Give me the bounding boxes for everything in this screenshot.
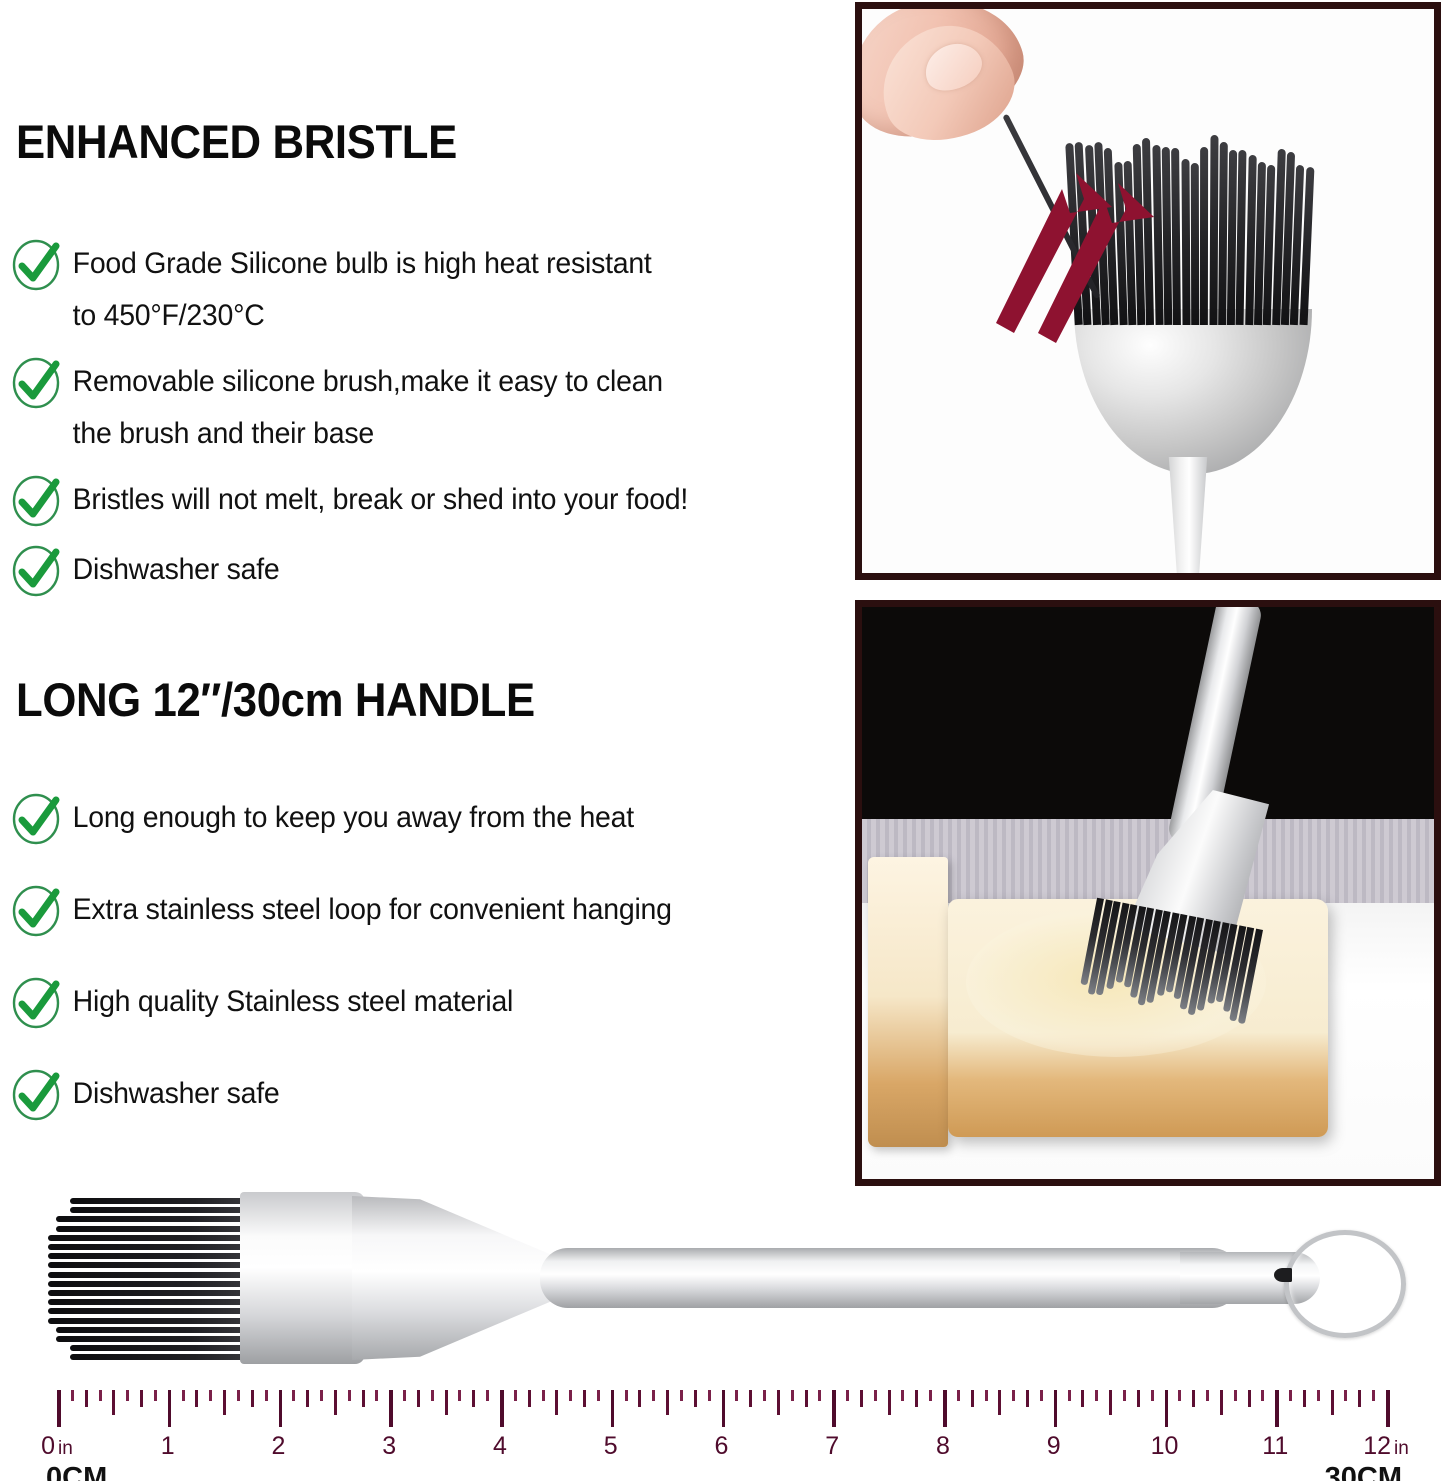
feature-text: High quality Stainless steel material — [64, 976, 822, 1028]
ruler-tick-eighth — [1040, 1390, 1043, 1401]
ruler-tick-eighth — [126, 1390, 129, 1401]
ruler-tick-major — [1054, 1390, 1058, 1427]
ruler-tick-major — [168, 1390, 172, 1427]
ruler-tick-quarter — [1137, 1390, 1140, 1407]
product-bristle — [48, 1262, 248, 1268]
ruler-inch-label: 2 — [272, 1432, 286, 1461]
ruler-tick-quarter — [251, 1390, 254, 1407]
ruler-tick-quarter — [1192, 1390, 1195, 1407]
ruler-tick-major — [57, 1390, 61, 1427]
list-item: Long enough to keep you away from the he… — [0, 792, 850, 848]
ruler-tick-half — [777, 1390, 780, 1415]
ruler-tick-eighth — [431, 1390, 434, 1401]
check-circle-icon — [10, 885, 64, 937]
ruler-tick-eighth — [348, 1390, 351, 1401]
ruler-inch-label: 6 — [715, 1432, 729, 1461]
ruler-tick-eighth — [71, 1390, 74, 1401]
ruler-tick-eighth — [1206, 1390, 1209, 1401]
product-full-view — [0, 1186, 1444, 1396]
feature-text: Bristles will not melt, break or shed in… — [64, 474, 822, 526]
ruler-tick-eighth — [957, 1390, 960, 1401]
ruler-tick-eighth — [1234, 1390, 1237, 1401]
ruler-tick-eighth — [597, 1390, 600, 1401]
product-bristle — [70, 1345, 248, 1351]
ruler-tick-eighth — [182, 1390, 185, 1401]
ruler-tick-quarter — [805, 1390, 808, 1407]
list-item: Bristles will not melt, break or shed in… — [0, 474, 850, 530]
product-bristle — [70, 1198, 248, 1204]
product-bristle — [48, 1299, 248, 1305]
ruler-tick-half — [1109, 1390, 1112, 1415]
ruler-tick-eighth — [514, 1390, 517, 1401]
ruler-tick-eighth — [1123, 1390, 1126, 1401]
ruler-tick-eighth — [237, 1390, 240, 1401]
ruler-tick-quarter — [860, 1390, 863, 1407]
ruler-inch-label: 3 — [382, 1432, 396, 1461]
ruler-inch-label: 5 — [604, 1432, 618, 1461]
ruler-tick-half — [1331, 1390, 1334, 1415]
ruler-tick-half — [1220, 1390, 1223, 1415]
ruler-tick-eighth — [403, 1390, 406, 1401]
ruler-tick-major — [1275, 1390, 1279, 1427]
ruler-tick-eighth — [735, 1390, 738, 1401]
ruler-tick-eighth — [846, 1390, 849, 1401]
ruler-tick-major — [389, 1390, 393, 1427]
product-bristle — [48, 1290, 248, 1296]
ruler-tick-eighth — [1012, 1390, 1015, 1401]
product-bristle — [48, 1272, 248, 1278]
ruler-tick-eighth — [874, 1390, 877, 1401]
list-item: Removable silicone brush,make it easy to… — [0, 356, 850, 460]
ruler-tick-eighth — [1178, 1390, 1181, 1401]
ruler-tick-quarter — [306, 1390, 309, 1407]
list-item: Extra stainless steel loop for convenien… — [0, 884, 850, 940]
ruler-tick-eighth — [542, 1390, 545, 1401]
product-handle-shaft — [540, 1248, 1240, 1308]
ruler-tick-major — [1165, 1390, 1169, 1427]
ruler-tick-eighth — [1068, 1390, 1071, 1401]
ruler-tick-quarter — [1026, 1390, 1029, 1407]
ruler-tick-eighth — [985, 1390, 988, 1401]
feature-list-enhanced-bristle: Food Grade Silicone bulb is high heat re… — [0, 238, 850, 614]
ruler-tick-eighth — [763, 1390, 766, 1401]
ruler-inch-label: 11 — [1262, 1432, 1288, 1461]
ruler-tick-eighth — [680, 1390, 683, 1401]
list-item: Food Grade Silicone bulb is high heat re… — [0, 238, 850, 342]
section-heading-long-handle: LONG 12″/30cm HANDLE — [16, 672, 535, 727]
ruler-tick-eighth — [569, 1390, 572, 1401]
ruler-tick-eighth — [320, 1390, 323, 1401]
ruler-tick-quarter — [1303, 1390, 1306, 1407]
photo-buttering-toast — [855, 600, 1441, 1186]
ruler-tick-quarter — [694, 1390, 697, 1407]
ruler-tick-quarter — [362, 1390, 365, 1407]
ruler-tick-eighth — [154, 1390, 157, 1401]
direction-arrow-icon — [992, 137, 1212, 372]
product-shoulder — [352, 1196, 552, 1360]
ruler-tick-quarter — [583, 1390, 586, 1407]
ruler-tick-half — [445, 1390, 448, 1415]
ruler-tick-half — [334, 1390, 337, 1415]
ruler-tick-eighth — [1317, 1390, 1320, 1401]
ruler-tick-eighth — [265, 1390, 268, 1401]
feature-text: Long enough to keep you away from the he… — [64, 792, 822, 844]
check-circle-icon — [10, 977, 64, 1029]
ruler-tick-eighth — [1344, 1390, 1347, 1401]
section-heading-enhanced-bristle: ENHANCED BRISTLE — [16, 114, 457, 169]
bread-slice-back — [868, 857, 948, 1147]
ruler-inch-label: 1 — [161, 1432, 175, 1461]
product-bristles — [48, 1198, 248, 1358]
check-circle-icon — [10, 475, 64, 527]
ruler-tick-major — [943, 1390, 947, 1427]
ruler-inch-label: 0in — [41, 1432, 73, 1461]
check-circle-icon — [10, 239, 64, 291]
product-bristle — [48, 1308, 248, 1314]
ruler-tick-quarter — [638, 1390, 641, 1407]
ruler-tick-quarter — [417, 1390, 420, 1407]
check-circle-icon — [10, 1069, 64, 1121]
product-bristle — [56, 1216, 248, 1222]
ruler-unit-label: in — [55, 1438, 73, 1459]
ruler-tick-eighth — [818, 1390, 821, 1401]
product-ferrule — [240, 1192, 365, 1364]
ruler-tick-eighth — [1289, 1390, 1292, 1401]
ruler-tick-quarter — [971, 1390, 974, 1407]
list-item: Dishwasher safe — [0, 1068, 850, 1124]
ruler-tick-quarter — [1358, 1390, 1361, 1407]
ruler-tick-eighth — [1095, 1390, 1098, 1401]
ruler-tick-quarter — [140, 1390, 143, 1407]
feature-text-column: ENHANCED BRISTLE Food Grade Silicone bul… — [0, 0, 850, 1180]
product-infographic: ENHANCED BRISTLE Food Grade Silicone bul… — [0, 0, 1444, 1481]
ruler-tick-eighth — [1261, 1390, 1264, 1401]
feature-list-long-handle: Long enough to keep you away from the he… — [0, 792, 850, 1160]
product-bristle — [48, 1318, 248, 1324]
list-item: Dishwasher safe — [0, 544, 850, 600]
ruler-tick-quarter — [85, 1390, 88, 1407]
ruler-tick-quarter — [1248, 1390, 1251, 1407]
product-bristle — [70, 1207, 248, 1213]
ruler-tick-half — [666, 1390, 669, 1415]
ruler-tick-eighth — [708, 1390, 711, 1401]
ruler-tick-quarter — [749, 1390, 752, 1407]
ruler-tick-half — [555, 1390, 558, 1415]
ruler-inch-label: 10 — [1151, 1432, 1179, 1461]
feature-text: Dishwasher safe — [64, 544, 822, 596]
hanging-loop-joint — [1274, 1268, 1292, 1282]
ruler-tick-half — [888, 1390, 891, 1415]
ruler-tick-major — [1386, 1390, 1390, 1427]
product-bristle — [48, 1253, 248, 1259]
ruler-scale: 0in123456789101112in 0CM 30CM — [0, 1390, 1444, 1481]
product-bristle — [56, 1226, 248, 1232]
list-item: High quality Stainless steel material — [0, 976, 850, 1032]
feature-text: Food Grade Silicone bulb is high heat re… — [64, 238, 822, 342]
ruler-inch-label: 9 — [1047, 1432, 1061, 1461]
ruler-tick-eighth — [929, 1390, 932, 1401]
check-circle-icon — [10, 357, 64, 409]
ruler-tick-eighth — [292, 1390, 295, 1401]
ruler-tick-eighth — [486, 1390, 489, 1401]
ruler-tick-half — [223, 1390, 226, 1415]
ruler-tick-eighth — [375, 1390, 378, 1401]
ruler-tick-quarter — [915, 1390, 918, 1407]
hanging-loop — [1284, 1230, 1406, 1338]
product-bristle — [56, 1327, 248, 1333]
ruler-tick-eighth — [625, 1390, 628, 1401]
ruler-tick-quarter — [528, 1390, 531, 1407]
ruler-tick-eighth — [652, 1390, 655, 1401]
ruler-tick-half — [998, 1390, 1001, 1415]
ruler-tick-quarter — [472, 1390, 475, 1407]
ruler-tick-major — [722, 1390, 726, 1427]
ruler-unit-label: in — [1391, 1438, 1409, 1459]
check-circle-icon — [10, 545, 64, 597]
bristle — [1218, 142, 1228, 325]
check-circle-icon — [10, 793, 64, 845]
ruler-tick-eighth — [901, 1390, 904, 1401]
feature-text: Dishwasher safe — [64, 1068, 822, 1120]
ruler-cm-start-label: 0CM — [46, 1462, 107, 1481]
ruler-tick-eighth — [458, 1390, 461, 1401]
ruler-tick-major — [500, 1390, 504, 1427]
ruler-inch-label: 12in — [1363, 1432, 1409, 1461]
product-bristle — [70, 1354, 248, 1360]
ruler-inch-label: 7 — [825, 1432, 839, 1461]
ruler-tick-eighth — [1151, 1390, 1154, 1401]
feature-text: Removable silicone brush,make it easy to… — [64, 356, 822, 460]
product-bristle — [56, 1336, 248, 1342]
product-bristle — [48, 1244, 248, 1250]
feature-text: Extra stainless steel loop for convenien… — [64, 884, 822, 936]
ruler-tick-eighth — [99, 1390, 102, 1401]
photo-bristle-pull — [855, 2, 1441, 580]
ruler-tick-quarter — [1081, 1390, 1084, 1407]
product-bristle — [48, 1281, 248, 1287]
ruler-inch-label: 8 — [936, 1432, 950, 1461]
ruler-tick-eighth — [209, 1390, 212, 1401]
ruler-tick-eighth — [791, 1390, 794, 1401]
ruler-tick-half — [112, 1390, 115, 1415]
ruler-tick-quarter — [195, 1390, 198, 1407]
ruler-tick-eighth — [1372, 1390, 1375, 1401]
ruler-tick-major — [832, 1390, 836, 1427]
ruler-tick-major — [611, 1390, 615, 1427]
ruler-cm-end-label: 30CM — [1325, 1462, 1402, 1481]
ruler-tick-major — [279, 1390, 283, 1427]
product-bristle — [48, 1235, 248, 1241]
ruler-inch-label: 4 — [493, 1432, 507, 1461]
